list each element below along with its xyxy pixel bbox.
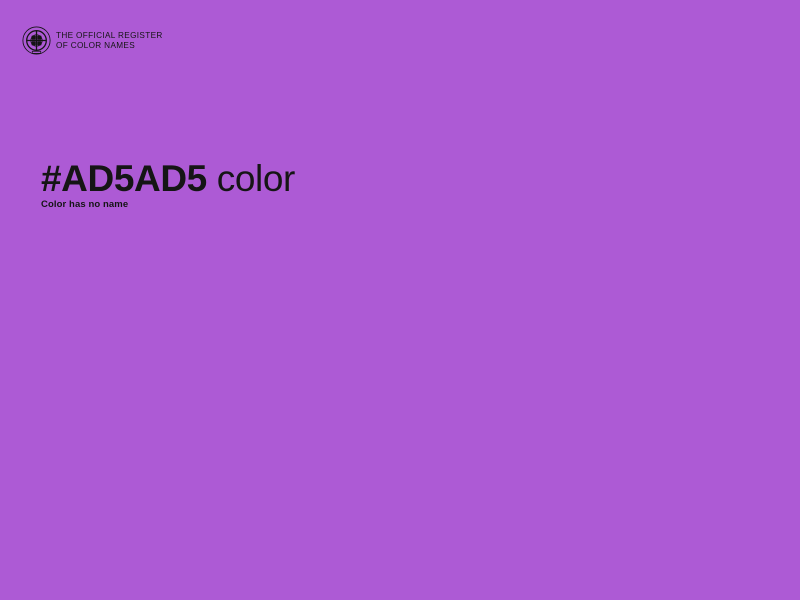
brand-line-1: THE OFFICIAL REGISTER (56, 31, 163, 42)
register-seal-icon (22, 26, 51, 55)
brand-lockup[interactable]: THE OFFICIAL REGISTER OF COLOR NAMES (22, 26, 163, 55)
color-page: THE OFFICIAL REGISTER OF COLOR NAMES #AD… (0, 0, 800, 600)
brand-wordmark: THE OFFICIAL REGISTER OF COLOR NAMES (56, 30, 163, 52)
page-title: #AD5AD5 color (41, 156, 295, 202)
page-title-suffix: color (217, 158, 295, 199)
brand-line-2: OF COLOR NAMES (56, 41, 163, 52)
color-name-status: Color has no name (41, 198, 128, 212)
page-title-hex: #AD5AD5 (41, 158, 207, 199)
